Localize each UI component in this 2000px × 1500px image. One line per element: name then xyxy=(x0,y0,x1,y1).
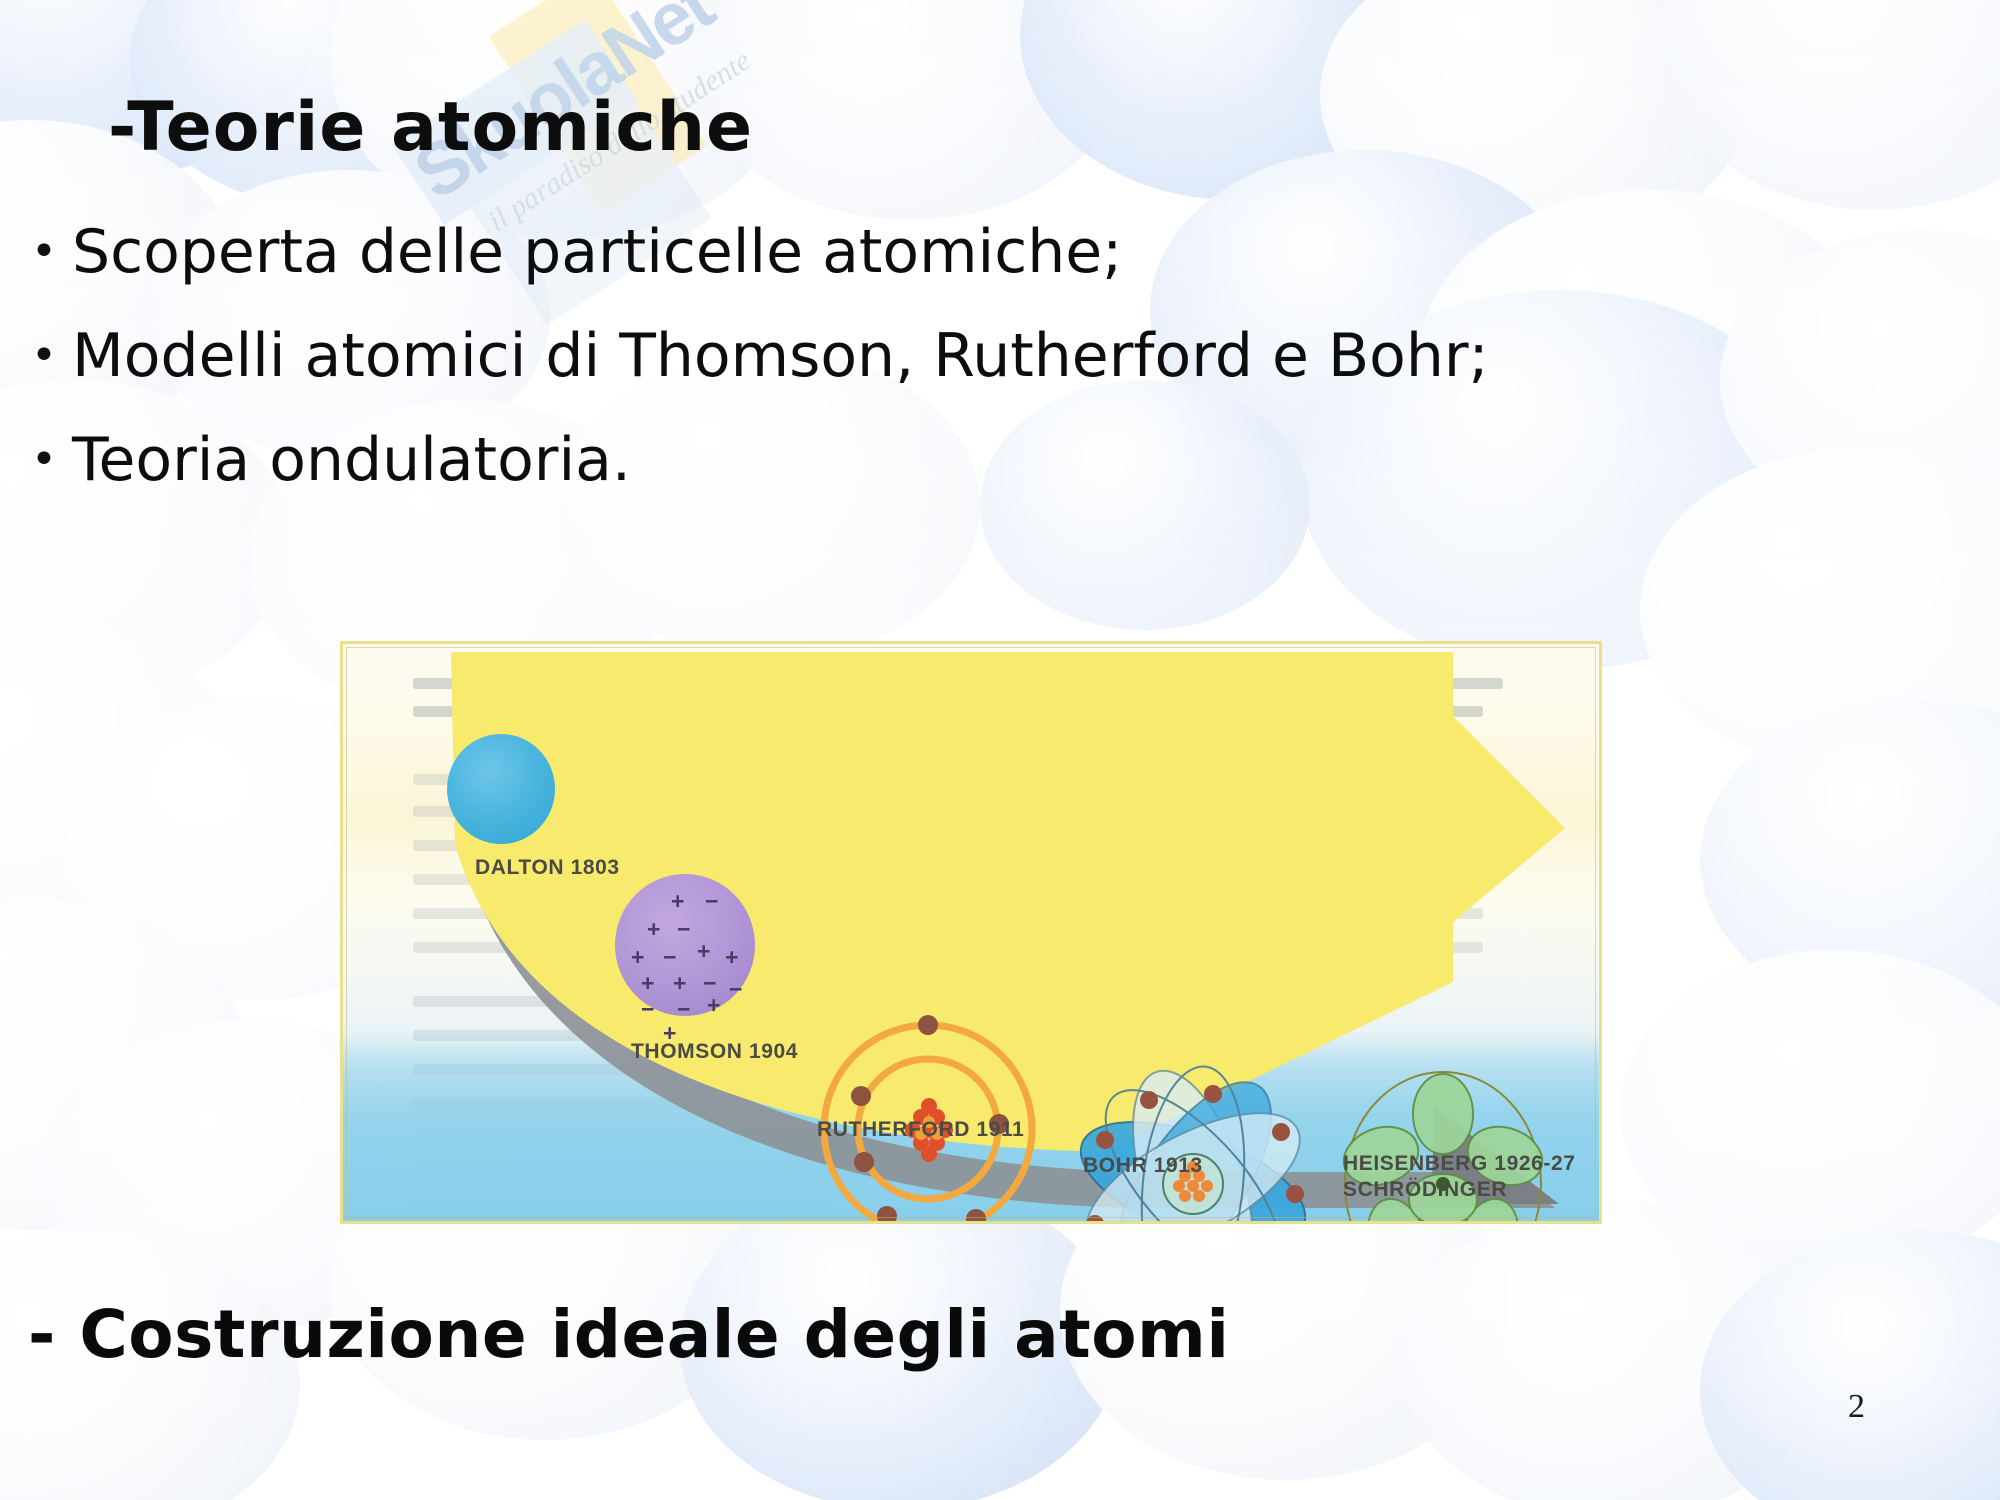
bullet-text: Teoria ondulatoria. xyxy=(72,414,631,506)
bullet-list: • Scoperta delle particelle atomiche; • … xyxy=(16,206,1866,518)
bullet-marker-icon: • xyxy=(16,206,72,298)
thomson-label: THOMSON 1904 xyxy=(631,1040,798,1064)
presentation-slide: SkuolaNet il paradiso dello studente -Te… xyxy=(0,0,2000,1500)
bullet-marker-icon: • xyxy=(16,310,72,402)
dalton-model-sphere-icon xyxy=(447,734,555,844)
schrodinger-label: SCHRÖDINGER xyxy=(1343,1178,1507,1202)
page-number: 2 xyxy=(1848,1388,1865,1426)
atomic-models-figure: DALTON 1803 + − + − + − + + + + − − − − … xyxy=(340,641,1602,1224)
bullet-text: Scoperta delle particelle atomiche; xyxy=(72,206,1122,298)
bullet-text: Modelli atomici di Thomson, Rutherford e… xyxy=(72,310,1489,402)
list-item: • Scoperta delle particelle atomiche; xyxy=(16,206,1866,298)
rutherford-label: RUTHERFORD 1911 xyxy=(817,1118,1024,1142)
footer-heading: - Costruzione ideale degli atomi xyxy=(28,1296,1229,1373)
thomson-model-sphere-icon: + − + − + − + + + + − − − − + + xyxy=(615,874,755,1016)
bohr-label: BOHR 1913 xyxy=(1083,1154,1203,1178)
bullet-marker-icon: • xyxy=(16,414,72,506)
slide-title: -Teorie atomiche xyxy=(108,88,753,167)
bohr-model-icon xyxy=(1043,1034,1343,1221)
figure-canvas: DALTON 1803 + − + − + − + + + + − − − − … xyxy=(343,644,1599,1221)
heisenberg-label: HEISENBERG 1926-27 xyxy=(1343,1152,1576,1176)
dalton-label: DALTON 1803 xyxy=(475,856,620,880)
list-item: • Modelli atomici di Thomson, Rutherford… xyxy=(16,310,1866,402)
list-item: • Teoria ondulatoria. xyxy=(16,414,1866,506)
